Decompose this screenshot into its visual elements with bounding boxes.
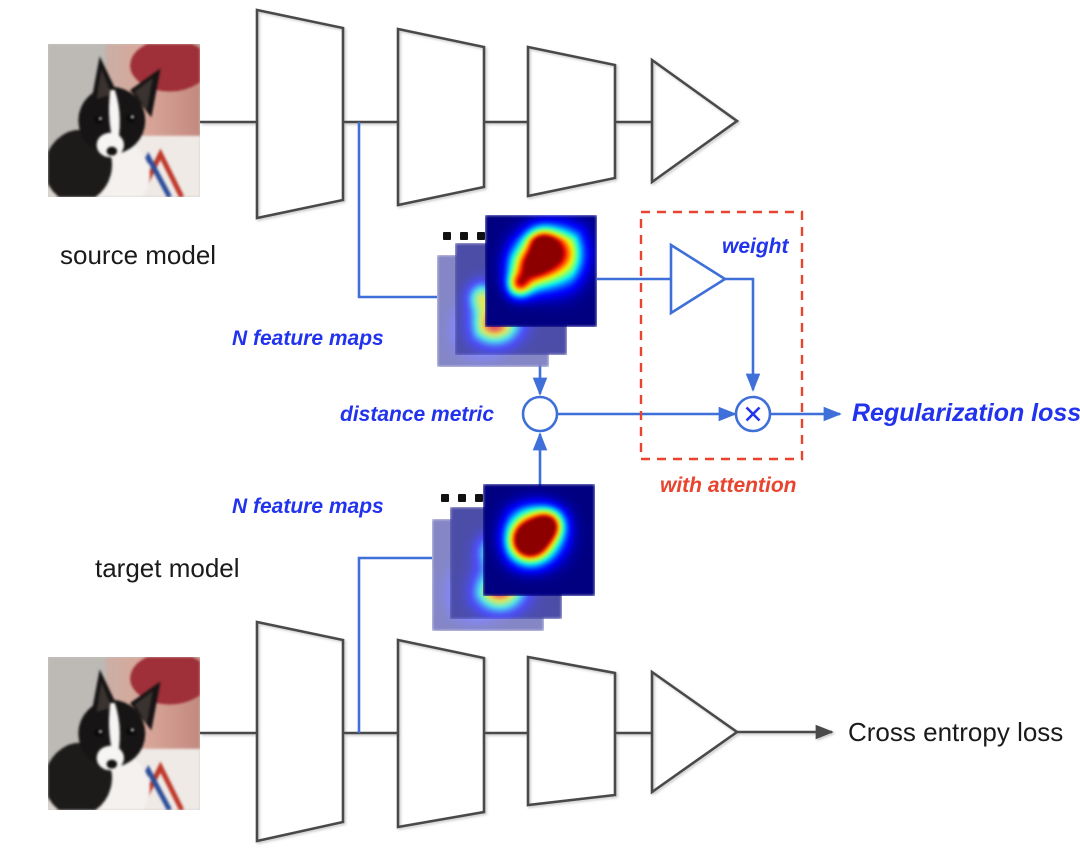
target-featuremap-front (483, 484, 595, 596)
source-conv-block-3 (528, 47, 615, 196)
weight-triangle (671, 245, 725, 313)
source-n-feature-maps-label: N feature maps (232, 328, 384, 349)
source-input-image (48, 44, 200, 197)
source-featuremap-front (485, 215, 597, 327)
with-attention-label: with attention (660, 475, 796, 496)
target-classifier-triangle (652, 672, 737, 792)
target-conv-block-1 (257, 622, 343, 841)
source-conv-block-1 (257, 10, 343, 218)
weight-label: weight (722, 236, 789, 257)
source-conv-block-2 (398, 29, 484, 205)
cross-entropy-loss-label: Cross entropy loss (848, 719, 1063, 745)
target-model-label: target model (95, 555, 240, 581)
source-featuremap-ellipsis (443, 232, 485, 240)
distance-metric-label: distance metric (340, 404, 494, 425)
distance-metric-node (523, 397, 557, 431)
target-input-image (48, 657, 200, 810)
diagram-canvas: source model target model N feature maps… (0, 0, 1080, 855)
target-model-group (200, 622, 832, 841)
target-conv-block-3 (528, 657, 615, 805)
source-model-label: source model (60, 242, 216, 268)
source-model-group (200, 10, 737, 218)
weight-to-multiply-wire (725, 279, 753, 390)
target-conv-block-2 (398, 640, 484, 827)
source-classifier-triangle (652, 60, 737, 182)
target-n-feature-maps-label: N feature maps (232, 496, 384, 517)
regularization-loss-label: Regularization loss (852, 401, 1080, 426)
target-featuremap-ellipsis (441, 494, 483, 502)
